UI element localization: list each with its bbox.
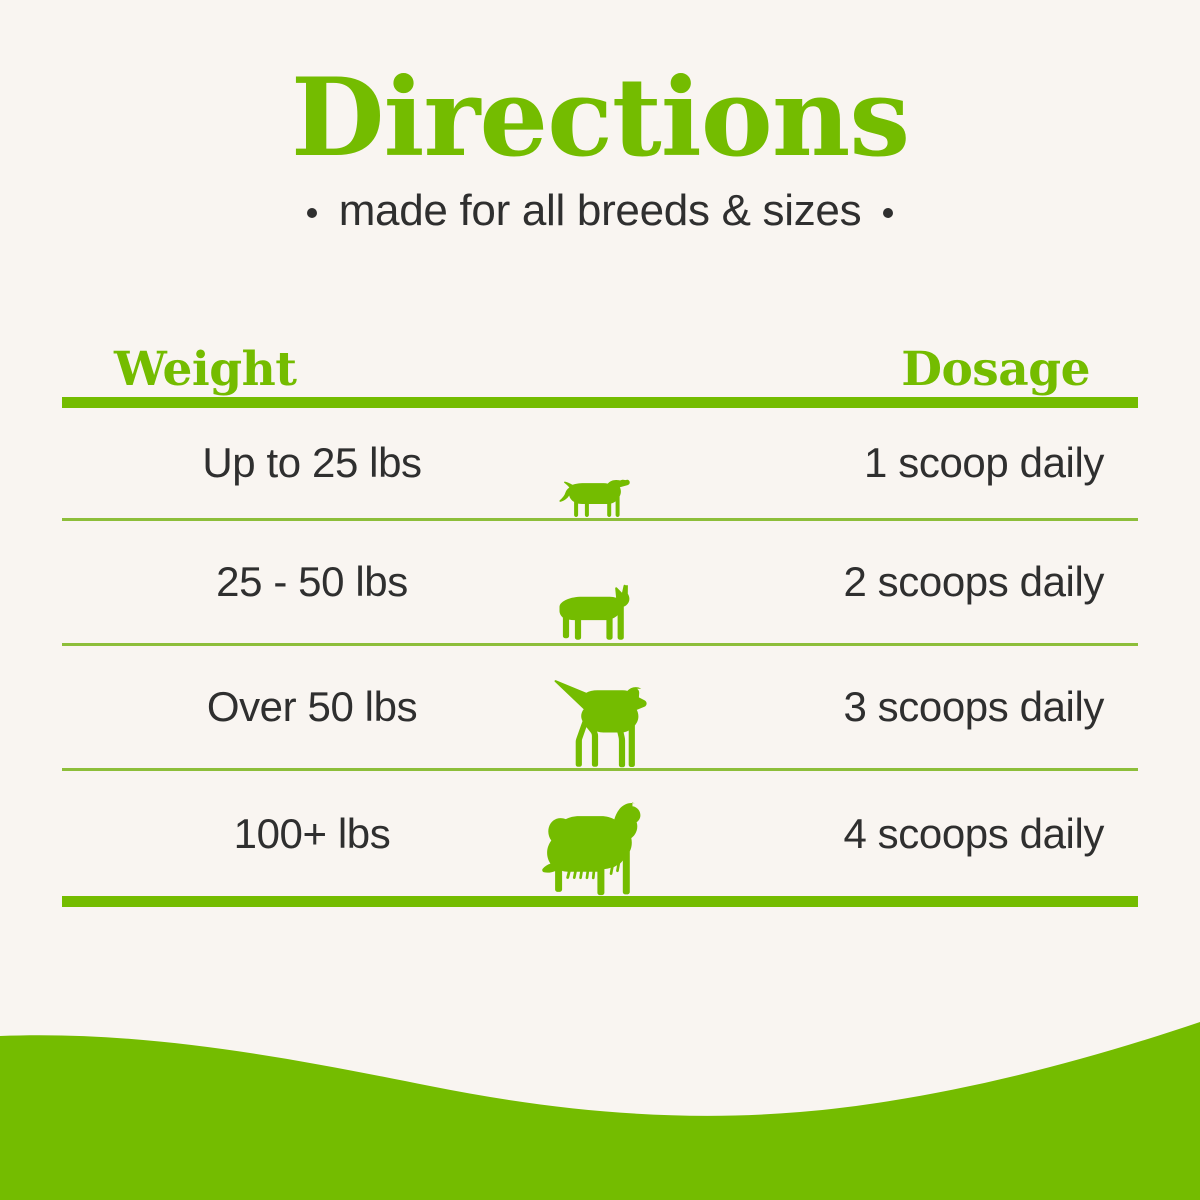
page-title: Directions [0, 62, 1200, 175]
cell-dosage: 1 scoop daily [864, 439, 1104, 487]
dachshund-dog-icon [552, 470, 648, 518]
bottom-green-wave [0, 1000, 1200, 1200]
bullet-dot-right-icon [883, 208, 893, 218]
table-footer-divider [62, 896, 1138, 907]
table-row: 25 - 50 lbs 2 scoops daily [62, 521, 1138, 643]
dosage-table: Weight Dosage Up to 25 lbs 1 scoop daily… [62, 325, 1138, 907]
cell-weight: 100+ lbs [102, 810, 522, 858]
fluffy-large-dog-icon [535, 800, 665, 896]
column-header-weight: Weight [114, 342, 296, 397]
table-row: Up to 25 lbs 1 scoop daily [62, 408, 1138, 518]
directions-infographic: Directions made for all breeds & sizes W… [0, 0, 1200, 1200]
table-row: Over 50 lbs 3 scoops daily [62, 646, 1138, 768]
subtitle-row: made for all breeds & sizes [0, 186, 1200, 236]
cell-dosage: 2 scoops daily [843, 558, 1104, 606]
cell-dosage: 4 scoops daily [843, 810, 1104, 858]
column-header-dosage: Dosage [901, 342, 1090, 397]
cell-weight: Up to 25 lbs [102, 439, 522, 487]
table-row: 100+ lbs 4 scoops daily [62, 771, 1138, 896]
table-header-row: Weight Dosage [62, 325, 1138, 397]
bullet-dot-left-icon [307, 208, 317, 218]
corgi-dog-icon [554, 581, 646, 643]
cell-weight: 25 - 50 lbs [102, 558, 522, 606]
pointer-dog-icon [544, 678, 656, 768]
cell-weight: Over 50 lbs [102, 683, 522, 731]
cell-dosage: 3 scoops daily [843, 683, 1104, 731]
page-subtitle: made for all breeds & sizes [339, 186, 862, 236]
table-header-divider [62, 397, 1138, 408]
